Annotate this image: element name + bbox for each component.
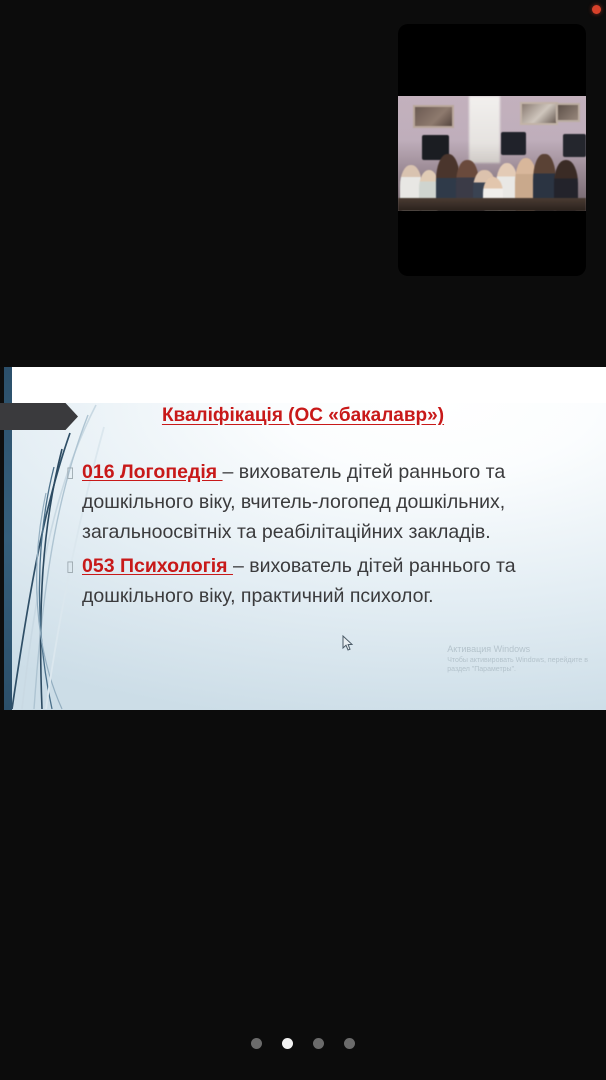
monitor-center [501, 132, 525, 155]
list-item: ▯ 016 Логопедія – вихователь дітей раннь… [66, 457, 576, 547]
slide-body: ▯ 016 Логопедія – вихователь дітей раннь… [66, 457, 576, 615]
presentation-slide[interactable]: Кваліфікація (ОС «бакалавр») ▯ 016 Логоп… [0, 367, 606, 710]
wall-picture-left [413, 105, 454, 128]
presentation-viewer-screen: Кваліфікація (ОС «бакалавр») ▯ 016 Логоп… [0, 0, 606, 1080]
pager-dot-3[interactable] [313, 1038, 324, 1049]
wall-picture-right [520, 102, 558, 125]
pagination-dots[interactable] [0, 1038, 606, 1049]
watermark-title: Активация Windows [447, 645, 588, 654]
recording-dot [592, 5, 601, 14]
pager-dot-2[interactable] [282, 1038, 293, 1049]
pager-dot-1[interactable] [251, 1038, 262, 1049]
monitor-right [563, 134, 586, 157]
windows-activation-watermark: Активация Windows Чтобы активировать Win… [447, 645, 588, 674]
bullet-text: 016 Логопедія – вихователь дітей ранньог… [82, 457, 576, 547]
webcam-video-tile[interactable] [398, 24, 586, 276]
pager-dot-4[interactable] [344, 1038, 355, 1049]
slide-title: Кваліфікація (ОС «бакалавр») [0, 405, 606, 427]
slide-header-band [0, 367, 606, 403]
webcam-video-frame [398, 96, 586, 211]
watermark-line-1: Чтобы активировать Windows, перейдите в [447, 656, 588, 665]
mouse-cursor-icon [342, 635, 354, 652]
bullet-text: 053 Психологія – вихователь дітей ранньо… [82, 551, 576, 611]
classroom-window [469, 96, 499, 163]
watermark-line-2: раздел "Параметры". [447, 665, 588, 674]
list-item: ▯ 053 Психологія – вихователь дітей ранн… [66, 551, 576, 611]
bullet-box-icon: ▯ [66, 551, 82, 581]
program-code-logopedia: 016 Логопедія [82, 461, 223, 483]
bullet-box-icon: ▯ [66, 457, 82, 487]
classroom-desk [398, 198, 586, 211]
program-code-psychology: 053 Психологія [82, 555, 233, 577]
wall-picture-far-right [556, 103, 580, 123]
